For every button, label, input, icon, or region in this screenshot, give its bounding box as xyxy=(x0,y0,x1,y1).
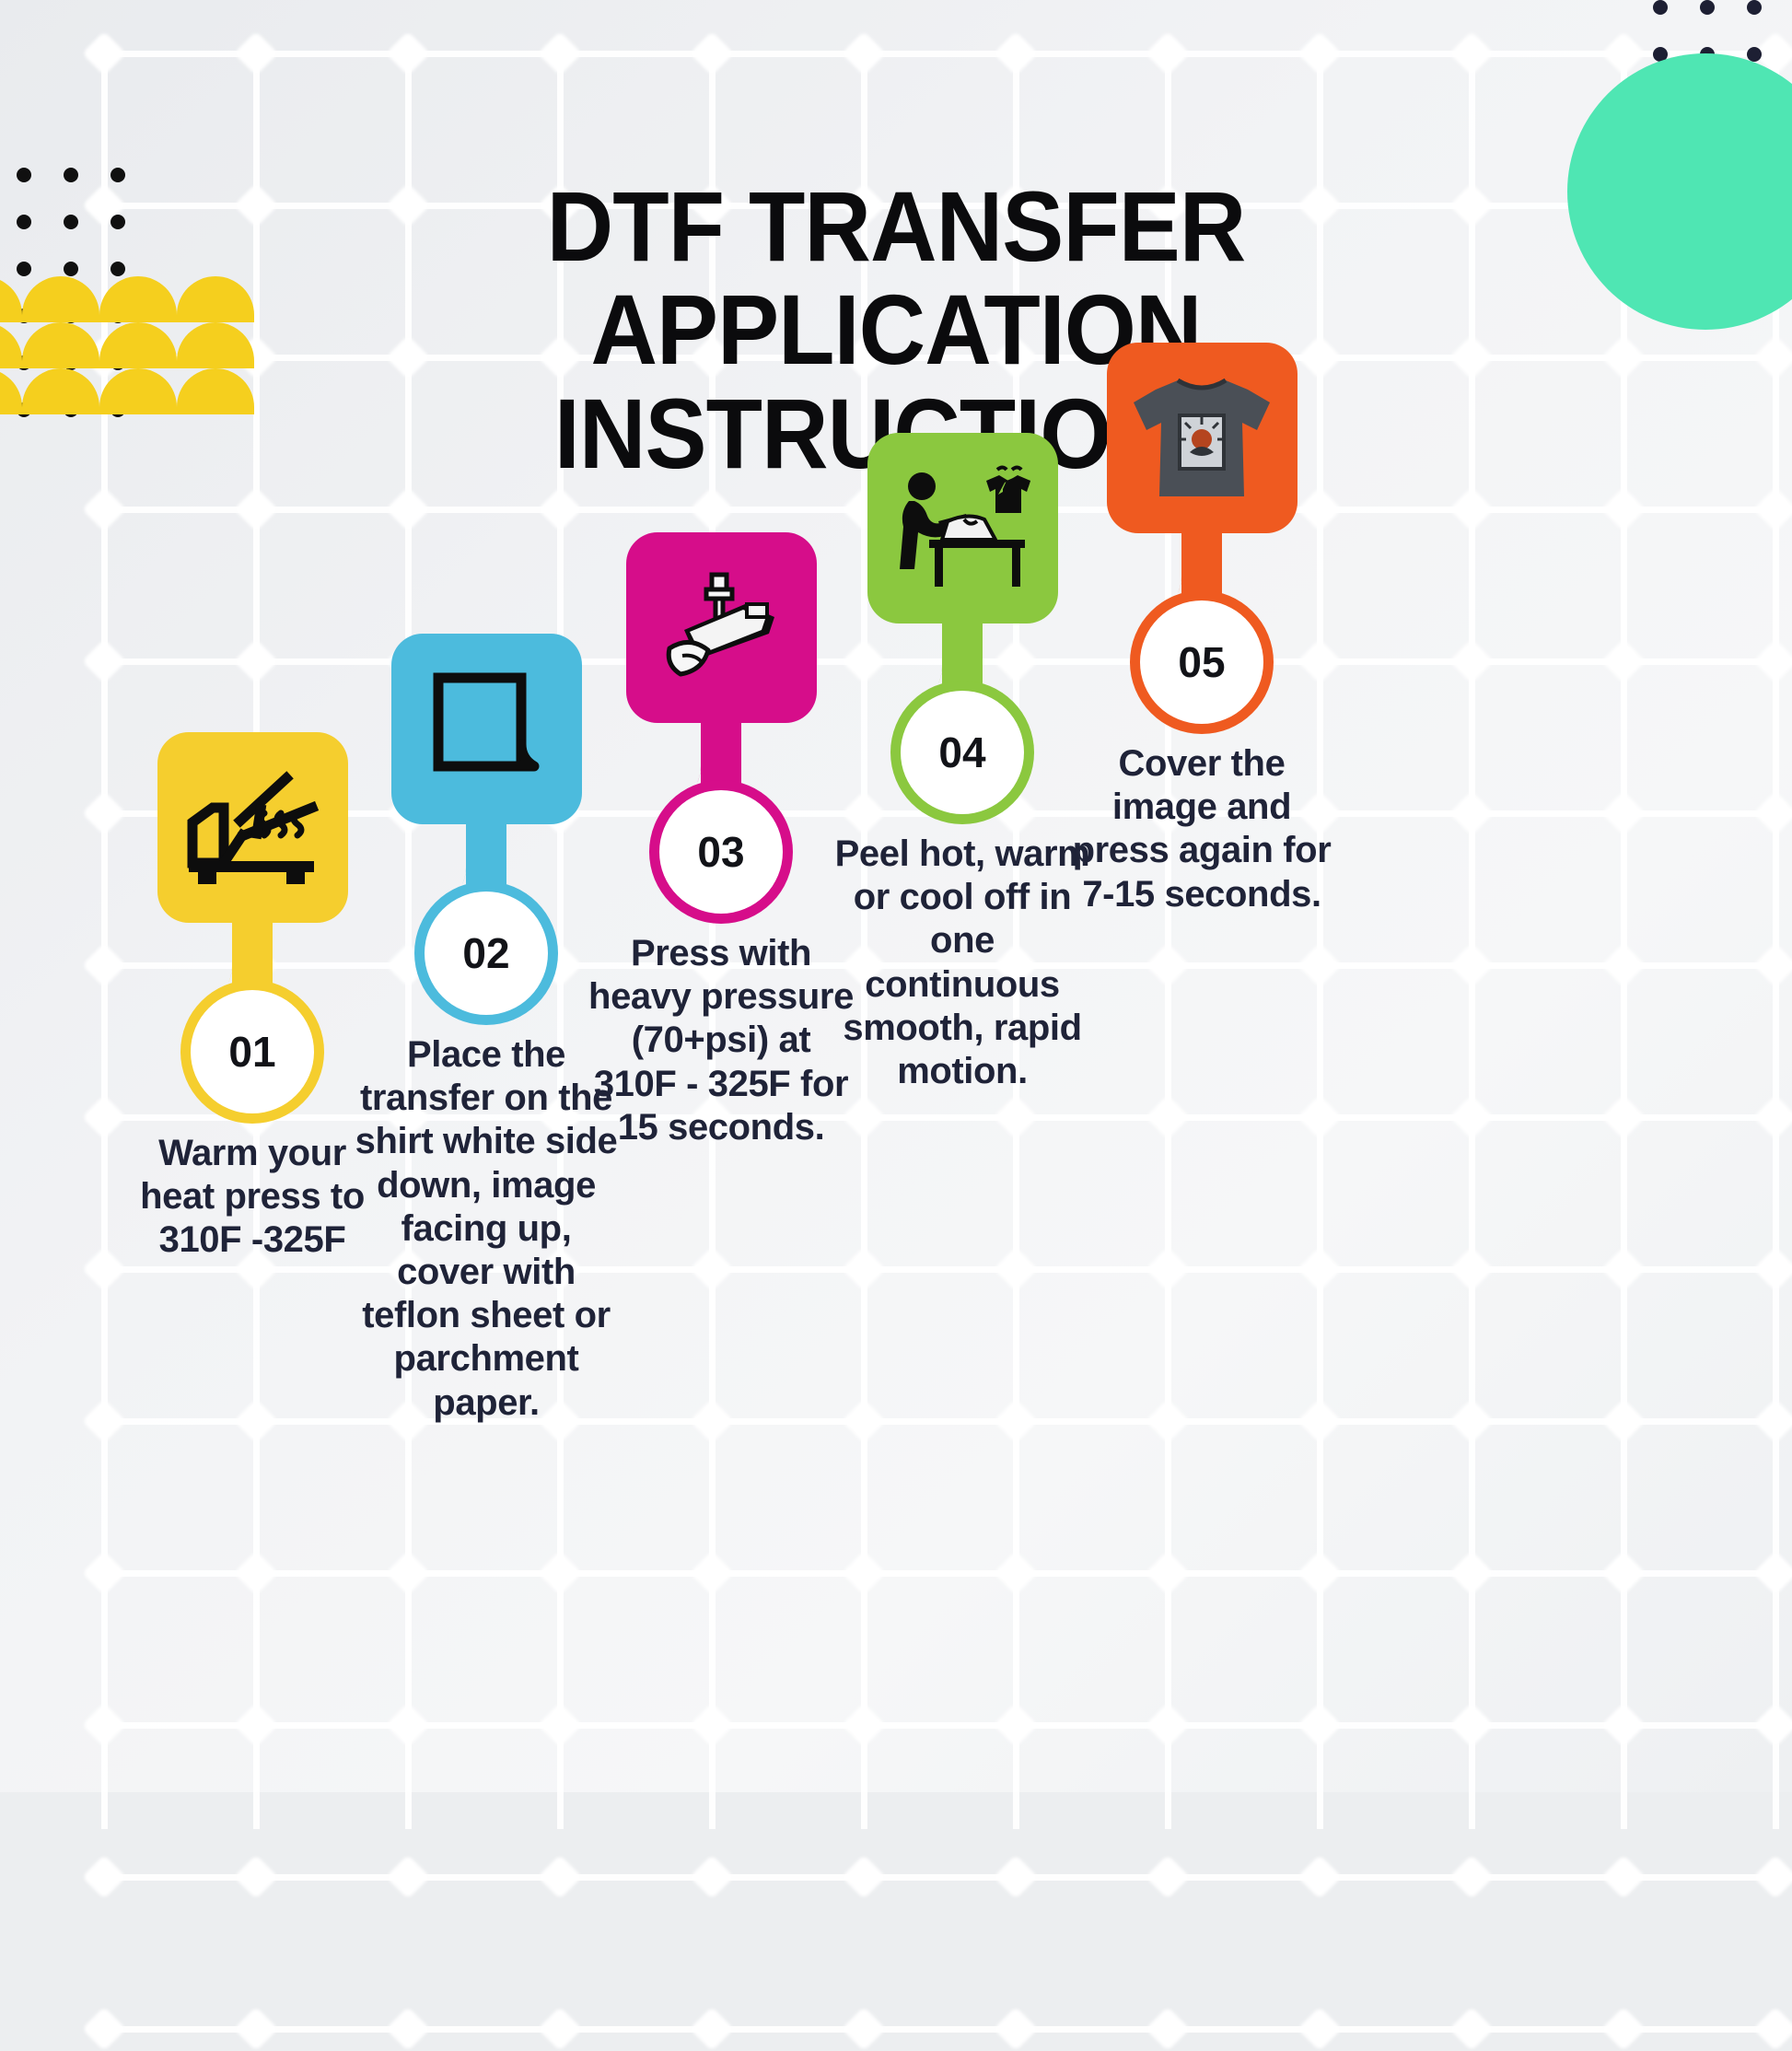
step-03-caption: Press with heavy pressure (70+psi) at 31… xyxy=(587,932,855,1149)
step-03-icon-card[interactable] xyxy=(626,532,817,723)
step-04-number: 04 xyxy=(938,728,985,777)
step-05-number: 05 xyxy=(1178,637,1225,687)
step-04-caption: Peel hot, warm or cool off in one contin… xyxy=(828,833,1097,1093)
step-01-icon-card[interactable] xyxy=(157,732,348,923)
step-04[interactable]: 04 Peel hot, warm or cool off in one con… xyxy=(829,433,1096,1093)
transfer-sheet-icon xyxy=(425,669,547,790)
step-03-number-badge[interactable]: 03 xyxy=(659,790,783,914)
step-01[interactable]: 01 Warm your heat press to 310F -325F xyxy=(119,732,386,1263)
steps-container: 01 Warm your heat press to 310F -325F 02… xyxy=(0,0,1792,1792)
heat-press-pressing-icon xyxy=(657,564,785,693)
person-peeling-transfer-icon xyxy=(889,464,1036,593)
step-04-icon-card[interactable] xyxy=(867,433,1058,623)
step-01-number: 01 xyxy=(228,1027,275,1077)
step-04-number-badge[interactable]: 04 xyxy=(901,691,1024,814)
step-03-number: 03 xyxy=(697,827,744,877)
heat-press-icon xyxy=(185,767,320,889)
step-05-icon-card[interactable] xyxy=(1107,343,1297,533)
printed-tshirt-icon xyxy=(1128,373,1275,504)
step-01-caption: Warm your heat press to 310F -325F xyxy=(118,1132,387,1263)
step-02-number: 02 xyxy=(462,928,509,978)
step-05-caption: Cover the image and press again for 7-15… xyxy=(1067,742,1336,916)
step-02-caption: Place the transfer on the shirt white si… xyxy=(352,1033,621,1425)
step-01-number-badge[interactable]: 01 xyxy=(191,990,314,1113)
step-02[interactable]: 02 Place the transfer on the shirt white… xyxy=(353,634,620,1425)
step-05-number-badge[interactable]: 05 xyxy=(1140,600,1263,724)
step-03[interactable]: 03 Press with heavy pressure (70+psi) at… xyxy=(588,532,855,1149)
step-05[interactable]: 05 Cover the image and press again for 7… xyxy=(1068,343,1335,916)
step-02-number-badge[interactable]: 02 xyxy=(425,891,548,1015)
step-02-icon-card[interactable] xyxy=(391,634,582,824)
